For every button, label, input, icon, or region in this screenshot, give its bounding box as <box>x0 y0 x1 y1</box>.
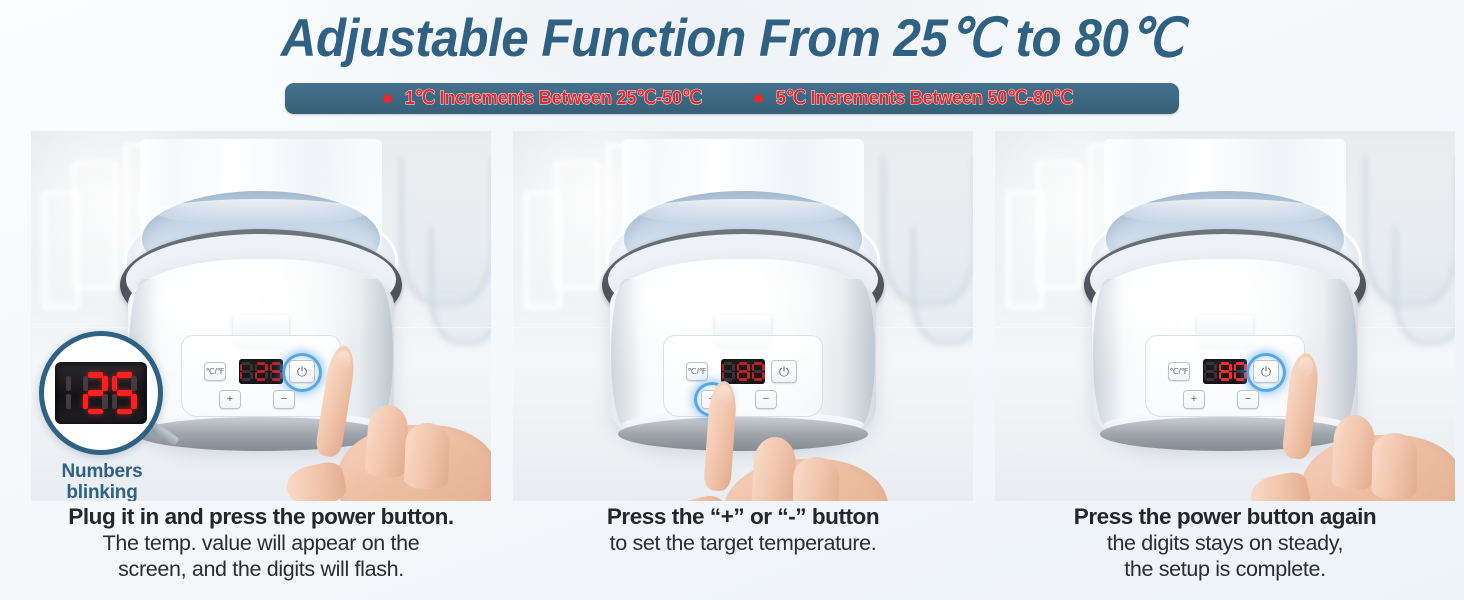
unit-toggle-button[interactable]: ℃/℉ <box>686 362 708 381</box>
ring-finger <box>792 457 839 501</box>
product-device-2: % ℃/℉ <box>578 139 908 459</box>
device-body-shading <box>611 279 641 429</box>
step-panel-2: % ℃/℉ <box>513 131 973 501</box>
thumb <box>1247 469 1312 501</box>
led-digit-tens <box>1204 362 1217 381</box>
red-dot-icon <box>383 94 392 103</box>
background-glassware <box>523 191 563 311</box>
caption-1-line3: screen, and the digits will flash. <box>31 556 491 582</box>
background-glassware <box>1005 191 1045 311</box>
led-digit-1 <box>255 362 268 381</box>
control-panel-2: % ℃/℉ <box>663 335 823 417</box>
unit-toggle-button[interactable]: ℃/℉ <box>1168 362 1190 381</box>
callout-label-line2: blinking <box>31 482 173 501</box>
banner-item-1: 1℃ Increments Between 25℃-50℃ <box>383 87 710 110</box>
product-device-3: % ℃/℉ <box>1060 139 1390 459</box>
step-panel-3: % ℃/℉ <box>995 131 1455 501</box>
led-digit-tens <box>66 372 79 414</box>
control-panel-3: % ℃/℉ <box>1145 335 1305 417</box>
led-digit-2 <box>752 362 765 381</box>
unit-toggle-button[interactable]: ℃/℉ <box>204 362 226 381</box>
device-body-shading <box>841 279 875 429</box>
callout-label: Numbers blinking <box>31 461 173 501</box>
device-body-shading <box>1093 279 1123 429</box>
caption-2: Press the “+” or “-” button to set the t… <box>513 503 973 600</box>
magnifier-callout <box>39 331 163 455</box>
caption-2-line2: to set the target temperature. <box>513 530 973 556</box>
steps-gallery: % ℃/℉ <box>0 131 1464 501</box>
device-base <box>1100 417 1350 451</box>
caption-1: Plug it in and press the power button. T… <box>31 503 491 600</box>
caption-1-line1: Plug it in and press the power button. <box>31 503 491 530</box>
led-digit-tens <box>722 362 735 381</box>
caption-3-line2: the digits stays on steady, <box>995 530 1455 556</box>
led-display-2 <box>721 359 765 384</box>
device-base <box>618 417 868 451</box>
step-panel-1: % ℃/℉ <box>31 131 491 501</box>
caption-3-line1: Press the power button again <box>995 503 1455 530</box>
captions-row: Plug it in and press the power button. T… <box>0 503 1464 600</box>
device-body-shading <box>1323 279 1357 429</box>
decrease-temp-button[interactable]: − <box>273 390 295 409</box>
callout-label-line1: Numbers <box>31 461 173 482</box>
power-button[interactable]: ⏻ <box>289 360 315 383</box>
led-digit-2 <box>1234 362 1247 381</box>
increase-temp-button[interactable]: + <box>1183 390 1205 409</box>
led-digit-tens <box>240 362 253 381</box>
device-basin-highlight <box>636 199 850 225</box>
led-digit-2 <box>270 362 283 381</box>
thumb <box>283 459 348 501</box>
banner-item-1-label: 1℃ Increments Between 25℃-50℃ <box>405 87 702 110</box>
led-display-3 <box>1203 359 1247 384</box>
increase-temp-button[interactable]: + <box>701 390 723 409</box>
power-button[interactable]: ⏻ <box>1253 360 1279 383</box>
hand-palm <box>723 459 888 501</box>
increments-banner: 1℃ Increments Between 25℃-50℃ 5℃ Increme… <box>285 83 1179 114</box>
led-digit-2 <box>112 372 137 414</box>
thumb <box>663 492 731 501</box>
led-digit-1 <box>83 372 108 414</box>
increase-temp-button[interactable]: + <box>219 390 241 409</box>
led-digit-1 <box>1219 362 1232 381</box>
caption-3: Press the power button again the digits … <box>995 503 1455 600</box>
device-body-shading <box>359 279 393 429</box>
device-basin-highlight <box>1118 199 1332 225</box>
led-digit-1 <box>737 362 750 381</box>
caption-2-line1: Press the “+” or “-” button <box>513 503 973 530</box>
control-panel-1: % ℃/℉ <box>181 335 341 417</box>
banner-item-2-label: 5℃ Increments Between 50℃-80℃ <box>776 87 1073 110</box>
decrease-temp-button[interactable]: − <box>755 390 777 409</box>
page-title: Adjustable Function From 25℃ to 80℃ <box>51 8 1413 69</box>
power-button[interactable]: ⏻ <box>771 360 797 383</box>
device-basin-highlight <box>154 199 368 225</box>
red-dot-icon <box>754 94 763 103</box>
background-glassware <box>41 191 81 311</box>
decrease-temp-button[interactable]: − <box>1237 390 1259 409</box>
banner-item-2: 5℃ Increments Between 50℃-80℃ <box>754 87 1081 110</box>
caption-3-line3: the setup is complete. <box>995 556 1455 582</box>
magnified-led-display <box>55 362 147 424</box>
led-display-1 <box>239 359 283 384</box>
caption-1-line2: The temp. value will appear on the <box>31 530 491 556</box>
